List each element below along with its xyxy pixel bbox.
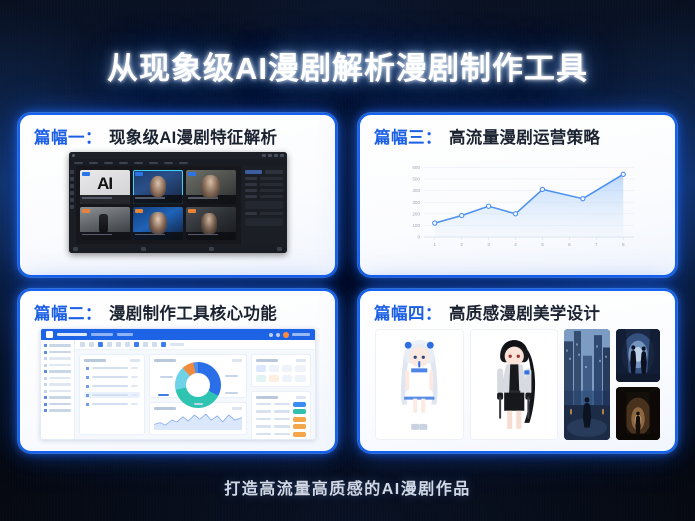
card-four-tag: 篇幅四： [374, 300, 442, 324]
dashboard-toolbar [75, 340, 315, 350]
card-three-body: 0100200300400500600 12345678 [371, 152, 664, 264]
donut-chart-panel [149, 354, 247, 398]
scene-stacked-column [616, 329, 660, 440]
editor-titlebar [69, 152, 287, 159]
dashboard-right-column [251, 354, 311, 435]
card-three-header: 篇幅三： 高流量漫剧运营策略 [360, 115, 675, 151]
aesthetic-gallery [371, 328, 664, 440]
dashboard-header-actions [269, 332, 310, 338]
card-four-body [371, 328, 664, 440]
card-one-tag: 篇幅一： [34, 124, 102, 148]
card-four-title: 高质感漫剧美学设计 [449, 300, 600, 324]
card-two-header: 篇幅二： 漫剧制作工具核心功能 [20, 291, 335, 327]
dashboard-main [41, 340, 315, 439]
dashboard-list-panel [79, 354, 145, 435]
traffic-chart: 0100200300400500600 12345678 [371, 152, 664, 264]
white-haired-character-svg [376, 330, 463, 439]
dashboard-content [75, 340, 315, 439]
slide-root: 从现象级AI漫剧解析漫剧制作工具 篇幅一： 现象级AI漫剧特征解析 [0, 0, 695, 521]
editor-menubar [69, 159, 287, 166]
scene-night-city [564, 329, 610, 440]
svg-text:2: 2 [460, 242, 463, 247]
card-one-title: 现象级AI漫剧特征解析 [109, 124, 277, 148]
card-three-tag: 篇幅三： [374, 124, 442, 148]
svg-text:1: 1 [433, 242, 436, 247]
svg-text:8: 8 [621, 242, 624, 247]
scene-corridor-single-figure [616, 387, 660, 440]
card-one-header: 篇幅一： 现象级AI漫剧特征解析 [20, 115, 335, 151]
svg-text:100: 100 [412, 223, 420, 228]
svg-text:500: 500 [412, 177, 420, 182]
card-grid: 篇幅一： 现象级AI漫剧特征解析 AI [18, 113, 677, 453]
card-two-title: 漫剧制作工具核心功能 [109, 300, 277, 324]
line-area-chart-svg: 0100200300400500600 12345678 [394, 157, 642, 259]
svg-text:3: 3 [487, 242, 490, 247]
svg-text:6: 6 [568, 242, 571, 247]
video-editor-screenshot: AI [69, 152, 287, 253]
dashboard-header [41, 329, 315, 340]
dashboard-logo-icon [46, 331, 53, 338]
editor-app-icon [72, 154, 75, 157]
character-illustration-black [470, 329, 559, 440]
asset-thumbnail-3 [186, 170, 236, 204]
asset-thumbnail-selected [133, 170, 183, 204]
svg-text:300: 300 [412, 200, 420, 205]
editor-properties-panel [241, 166, 287, 244]
dashboard-brand [46, 331, 133, 338]
dashboard-panels [75, 350, 315, 439]
character-illustration-white [375, 329, 464, 440]
asset-thumbnail-ai: AI [80, 170, 130, 204]
card-three-title: 高流量漫剧运营策略 [449, 124, 600, 148]
card-section-two[interactable]: 篇幅二： 漫剧制作工具核心功能 [18, 289, 337, 453]
editor-tool-rail [69, 166, 76, 244]
asset-thumbnail-5 [133, 207, 183, 241]
asset-thumbnail-4 [80, 207, 130, 241]
scene-image-pair [564, 329, 660, 440]
dashboard-table-panel [251, 391, 311, 440]
page-title: 从现象级AI漫剧解析漫剧制作工具 [0, 43, 695, 88]
tunnel-two-figures-svg [616, 329, 660, 382]
card-two-body [31, 328, 324, 440]
page-footer: 打造高流量高质感的AI漫剧作品 [0, 475, 695, 499]
editor-asset-grid: AI [76, 166, 241, 244]
editor-main: AI [69, 166, 287, 244]
chart-x-tick-labels: 12345678 [433, 242, 624, 247]
svg-text:7: 7 [595, 242, 598, 247]
card-two-tag: 篇幅二： [34, 300, 102, 324]
svg-text:0: 0 [417, 235, 420, 240]
avatar [283, 332, 289, 338]
asset-thumbnail-6 [186, 207, 236, 241]
card-four-header: 篇幅四： 高质感漫剧美学设计 [360, 291, 675, 327]
dashboard-sidebar [41, 340, 75, 439]
card-one-body: AI [31, 152, 324, 264]
svg-text:400: 400 [412, 188, 420, 193]
svg-text:600: 600 [412, 165, 420, 170]
editor-statusbar [69, 244, 287, 253]
dashboard-screenshot [40, 328, 316, 440]
svg-text:5: 5 [541, 242, 544, 247]
svg-text:4: 4 [514, 242, 517, 247]
svg-text:200: 200 [412, 211, 420, 216]
chart-y-tick-labels: 0100200300400500600 [412, 165, 420, 240]
black-haired-character-svg [471, 330, 558, 439]
corridor-figure-svg [616, 387, 660, 440]
night-city-svg [564, 329, 610, 440]
chart-area-fill [434, 174, 622, 237]
editor-window-controls [262, 154, 284, 157]
dashboard-charts-column [149, 354, 247, 435]
scene-tunnel-two-figures [616, 329, 660, 382]
donut-chart [154, 362, 242, 408]
dashboard-stats-panel [251, 354, 311, 387]
card-section-one[interactable]: 篇幅一： 现象级AI漫剧特征解析 AI [18, 113, 337, 277]
card-section-three[interactable]: 篇幅三： 高流量漫剧运营策略 0100200300400500600 [358, 113, 677, 277]
dashboard-area-chart [154, 410, 242, 430]
card-section-four[interactable]: 篇幅四： 高质感漫剧美学设计 [358, 289, 677, 453]
